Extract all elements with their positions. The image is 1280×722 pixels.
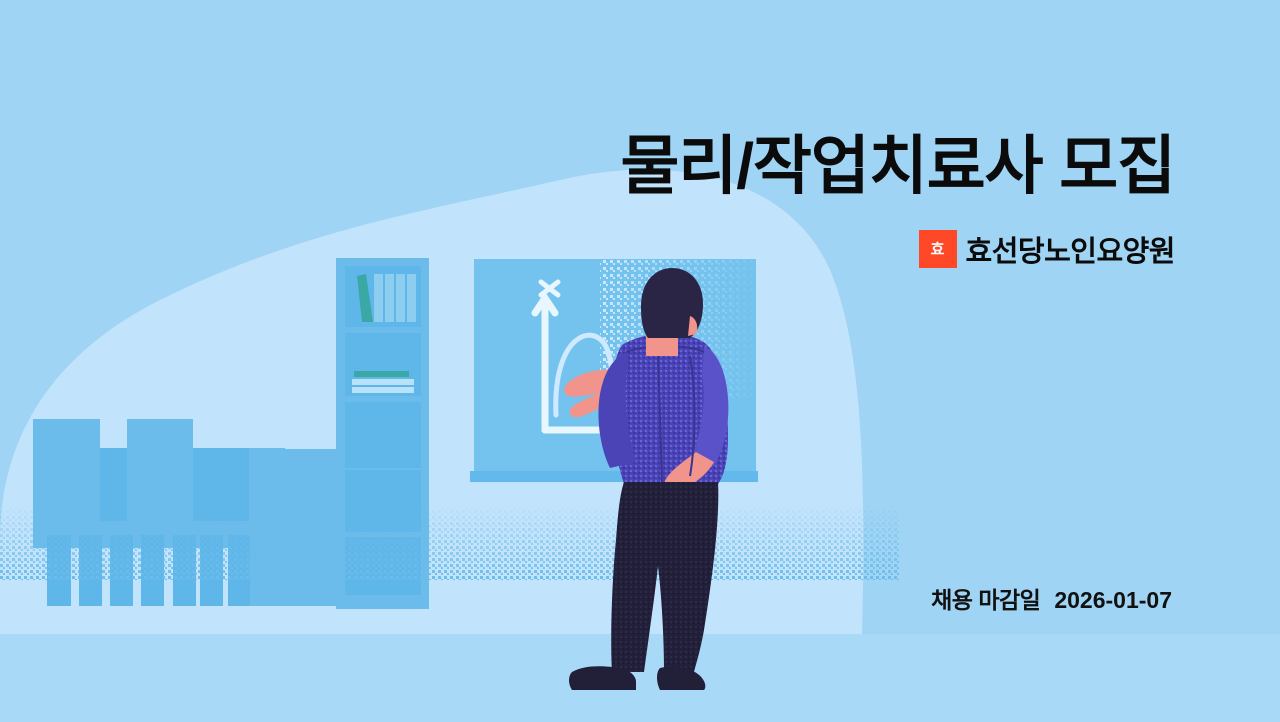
company-logo-badge: 효 (919, 230, 957, 268)
company-name: 효선당노인요양원 (966, 228, 1175, 270)
company-row: 효 효선당노인요양원 (919, 228, 1175, 270)
page-title: 물리/작업치료사 모집 (0, 134, 1175, 198)
deadline-value: 2026-01-07 (1054, 587, 1172, 614)
deadline-label: 채용 마감일 (931, 581, 1040, 615)
deadline-row: 채용 마감일 2026-01-07 (931, 581, 1172, 615)
job-posting-banner: 물리/작업치료사 모집 효 효선당노인요양원 채용 마감일 2026-01-07 (0, 0, 1280, 722)
ground-speckle (0, 505, 900, 580)
